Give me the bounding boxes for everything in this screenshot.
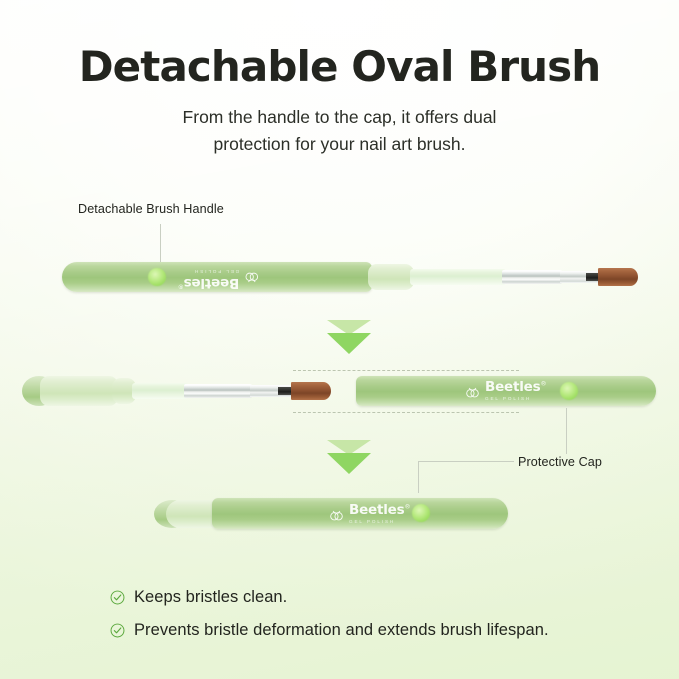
- row-closed-pen: Beetles® GEL POLISH: [0, 0, 679, 679]
- brand-name-row3: Beetles®: [349, 504, 410, 518]
- benefit-text-1: Keeps bristles clean.: [134, 588, 287, 607]
- check-circle-icon: [110, 623, 125, 638]
- benefit-text-2: Prevents bristle deformation and extends…: [134, 621, 549, 640]
- infographic-canvas: Detachable Oval Brush From the handle to…: [0, 0, 679, 679]
- closed-pen-cap-row3: [166, 500, 218, 528]
- brand-logo-row3: Beetles® GEL POLISH: [328, 504, 410, 524]
- brand-logo-words-row3: Beetles® GEL POLISH: [349, 504, 410, 524]
- brand-tagline-row3: GEL POLISH: [349, 520, 410, 525]
- check-circle-icon: [110, 590, 125, 605]
- body-highlight-dot-row3: [412, 504, 430, 522]
- benefits-list: Keeps bristles clean. Prevents bristle d…: [110, 588, 549, 654]
- benefit-item-2: Prevents bristle deformation and extends…: [110, 621, 549, 640]
- benefit-item-1: Keeps bristles clean.: [110, 588, 549, 607]
- beetles-logo-mark: [328, 506, 345, 523]
